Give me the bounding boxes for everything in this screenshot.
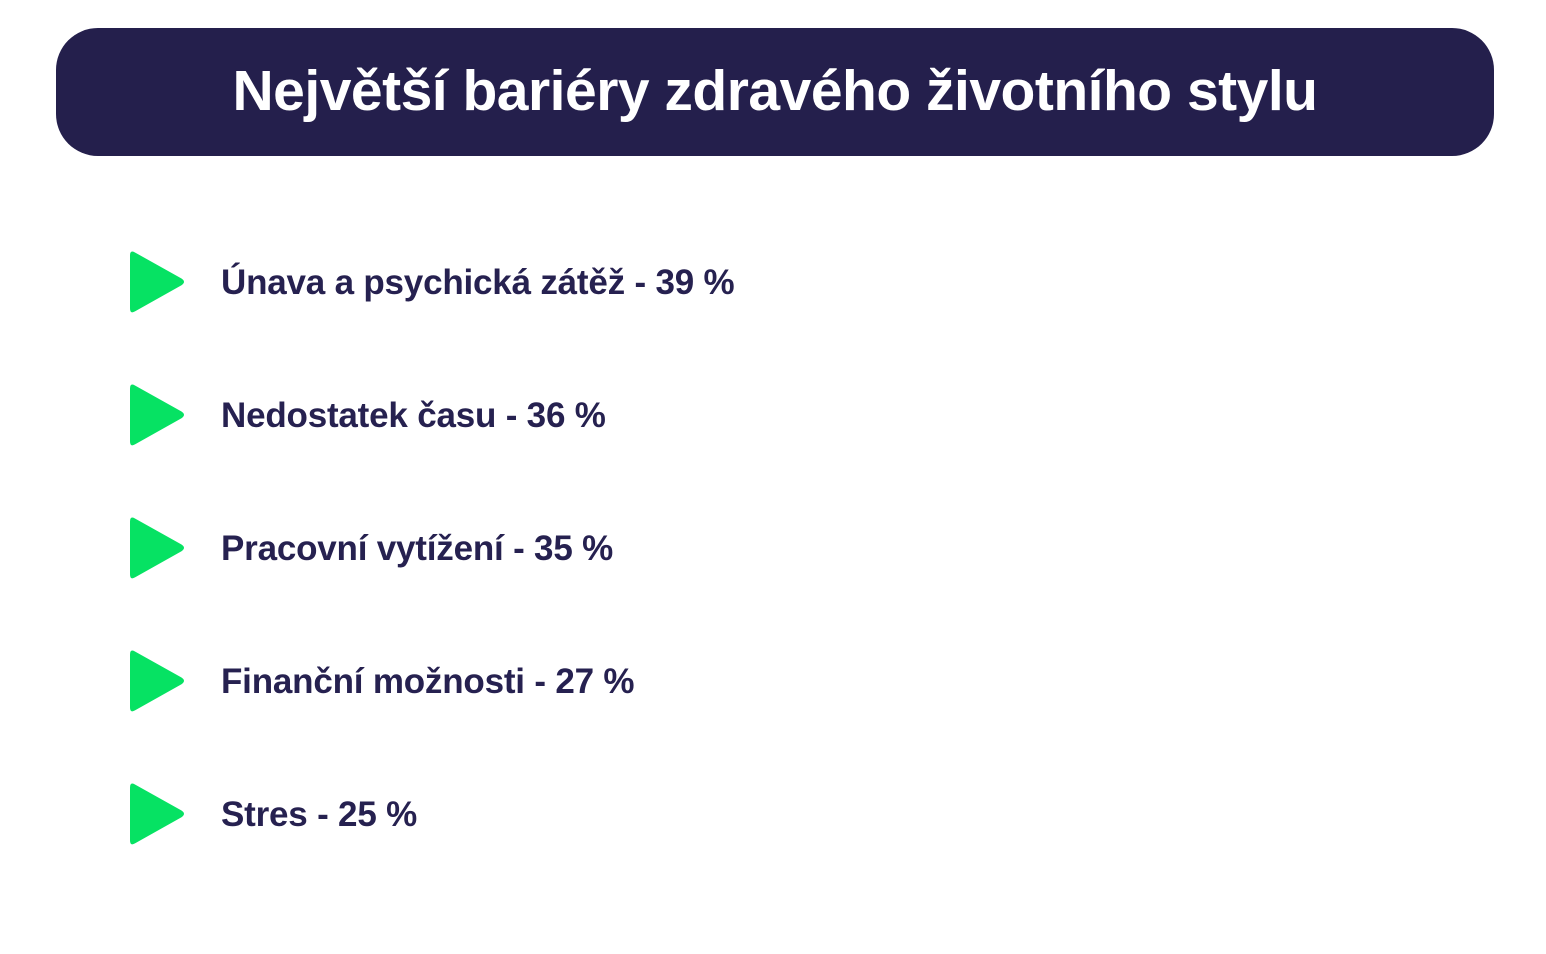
play-triangle-icon: [124, 515, 187, 581]
list-item-label: Pracovní vytížení - 35 %: [221, 531, 613, 566]
list-item-label: Stres - 25 %: [221, 797, 417, 832]
play-triangle-icon: [124, 781, 187, 847]
list-item: Únava a psychická zátěž - 39 %: [124, 248, 1424, 316]
play-triangle-icon: [124, 648, 187, 714]
list-item-label: Finanční možnosti - 27 %: [221, 664, 634, 699]
list-item: Nedostatek času - 36 %: [124, 381, 1424, 449]
list-item: Stres - 25 %: [124, 780, 1424, 848]
list-item: Pracovní vytížení - 35 %: [124, 514, 1424, 582]
title-banner: Největší bariéry zdravého životního styl…: [56, 28, 1494, 156]
play-triangle-icon: [124, 249, 187, 315]
list-item-label: Nedostatek času - 36 %: [221, 398, 606, 433]
page-title: Největší bariéry zdravého životního styl…: [233, 62, 1318, 122]
play-triangle-icon: [124, 382, 187, 448]
list-item: Finanční možnosti - 27 %: [124, 647, 1424, 715]
list-item-label: Únava a psychická zátěž - 39 %: [221, 265, 734, 300]
infographic-canvas: Největší bariéry zdravého životního styl…: [0, 0, 1546, 954]
barriers-list: Únava a psychická zátěž - 39 % Nedostate…: [124, 248, 1424, 848]
